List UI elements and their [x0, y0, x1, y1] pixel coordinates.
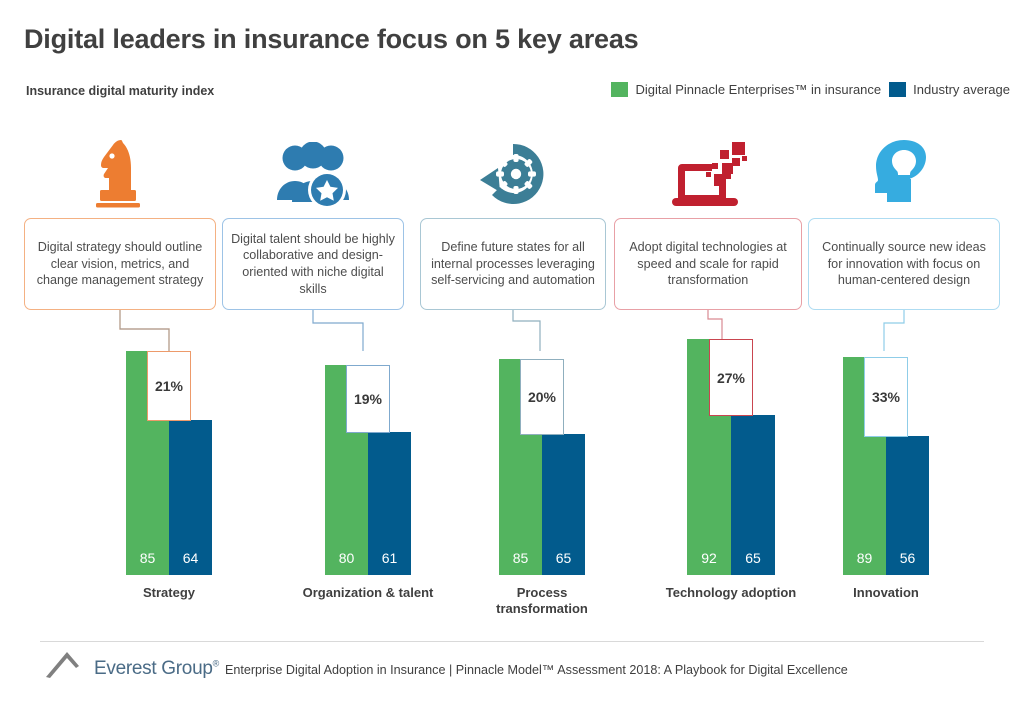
bar-value-industry-technology-adoption: 65 [731, 550, 775, 566]
bar-value-pinnacle-innovation: 89 [843, 550, 886, 566]
gap-value-technology-adoption: 27% [717, 370, 745, 386]
bar-value-pinnacle-organization-talent: 80 [325, 550, 368, 566]
gap-badge-technology-adoption[interactable]: 27% [709, 339, 753, 416]
bar-chart: 85 64 21% Strategy 80 61 19% Organizatio… [0, 0, 1024, 706]
bar-value-industry-organization-talent: 61 [368, 550, 411, 566]
bar-value-industry-innovation: 56 [886, 550, 929, 566]
bar-value-pinnacle-technology-adoption: 92 [687, 550, 731, 566]
category-label-innovation: Innovation [816, 585, 956, 601]
bar-industry-innovation: 56 [886, 436, 929, 575]
bar-industry-technology-adoption: 65 [731, 415, 775, 575]
category-label-process-transformation: Process transformation [472, 585, 612, 618]
everest-group-logo-icon [44, 650, 92, 678]
gap-badge-process-transformation[interactable]: 20% [520, 359, 564, 435]
gap-badge-innovation[interactable]: 33% [864, 357, 908, 437]
category-label-strategy: Strategy [99, 585, 239, 601]
gap-value-process-transformation: 20% [528, 389, 556, 405]
bar-industry-strategy: 64 [169, 420, 212, 575]
gap-value-strategy: 21% [155, 378, 183, 394]
footer-caption: Enterprise Digital Adoption in Insurance… [225, 663, 848, 677]
logo-registered-mark: ® [213, 659, 219, 669]
footer-divider [40, 641, 984, 642]
gap-value-organization-talent: 19% [354, 391, 382, 407]
bar-value-pinnacle-process-transformation: 85 [499, 550, 542, 566]
gap-value-innovation: 33% [872, 389, 900, 405]
everest-group-logo-text: Everest Group® [94, 658, 219, 680]
bar-industry-process-transformation: 65 [542, 434, 585, 575]
bar-value-industry-process-transformation: 65 [542, 550, 585, 566]
category-label-organization-talent: Organization & talent [298, 585, 438, 601]
bar-value-pinnacle-strategy: 85 [126, 550, 169, 566]
infographic-root: Digital leaders in insurance focus on 5 … [0, 0, 1024, 706]
logo-name: Everest Group [94, 658, 213, 679]
footer: Everest Group® Enterprise Digital Adopti… [44, 650, 848, 678]
gap-badge-organization-talent[interactable]: 19% [346, 365, 390, 433]
bar-industry-organization-talent: 61 [368, 432, 411, 575]
category-label-technology-adoption: Technology adoption [656, 585, 806, 601]
gap-badge-strategy[interactable]: 21% [147, 351, 191, 421]
bar-value-industry-strategy: 64 [169, 550, 212, 566]
